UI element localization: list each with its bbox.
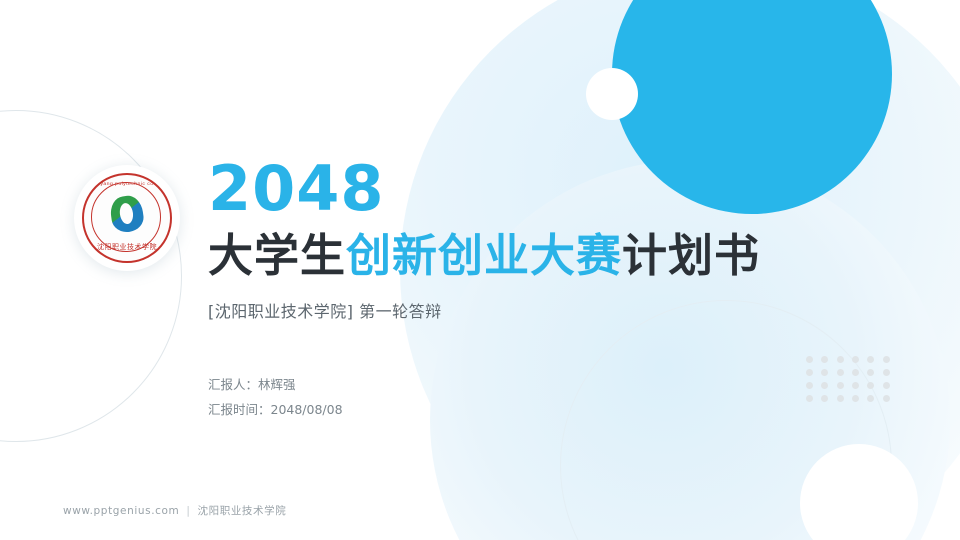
presentation-meta: 汇报人：林辉强 汇报时间：2048/08/08	[208, 372, 343, 422]
logo-seal-top-text: shenyang polytechnic college	[84, 181, 170, 187]
decorative-dot-grid	[806, 356, 898, 408]
meta-date: 汇报时间：2048/08/08	[208, 397, 343, 422]
meta-presenter: 汇报人：林辉强	[208, 372, 343, 397]
footer-site[interactable]: www.pptgenius.com	[63, 505, 179, 517]
page-title-part-1: 大学生	[208, 229, 346, 282]
decorative-ring-left	[0, 110, 182, 442]
decorative-circle-white-small	[586, 68, 638, 120]
slide-root: shenyang polytechnic college 沈阳职业技术学院 20…	[0, 0, 960, 540]
page-title-part-2: 创新创业大赛	[346, 229, 622, 282]
page-title-part-3: 计划书	[622, 229, 760, 282]
footer-org: 沈阳职业技术学院	[198, 503, 287, 518]
logo-seal-icon: shenyang polytechnic college 沈阳职业技术学院	[82, 173, 172, 263]
page-subtitle: [沈阳职业技术学院] 第一轮答辩	[208, 298, 848, 322]
title-block: 2048 大学生创新创业大赛计划书 [沈阳职业技术学院] 第一轮答辩	[208, 158, 848, 322]
logo-seal-bottom-text: 沈阳职业技术学院	[84, 242, 170, 252]
footer: www.pptgenius.com | 沈阳职业技术学院	[63, 503, 286, 518]
school-logo: shenyang polytechnic college 沈阳职业技术学院	[74, 165, 180, 271]
page-title: 大学生创新创业大赛计划书	[208, 230, 848, 282]
footer-divider: |	[186, 505, 190, 517]
year-label: 2048	[208, 158, 848, 220]
